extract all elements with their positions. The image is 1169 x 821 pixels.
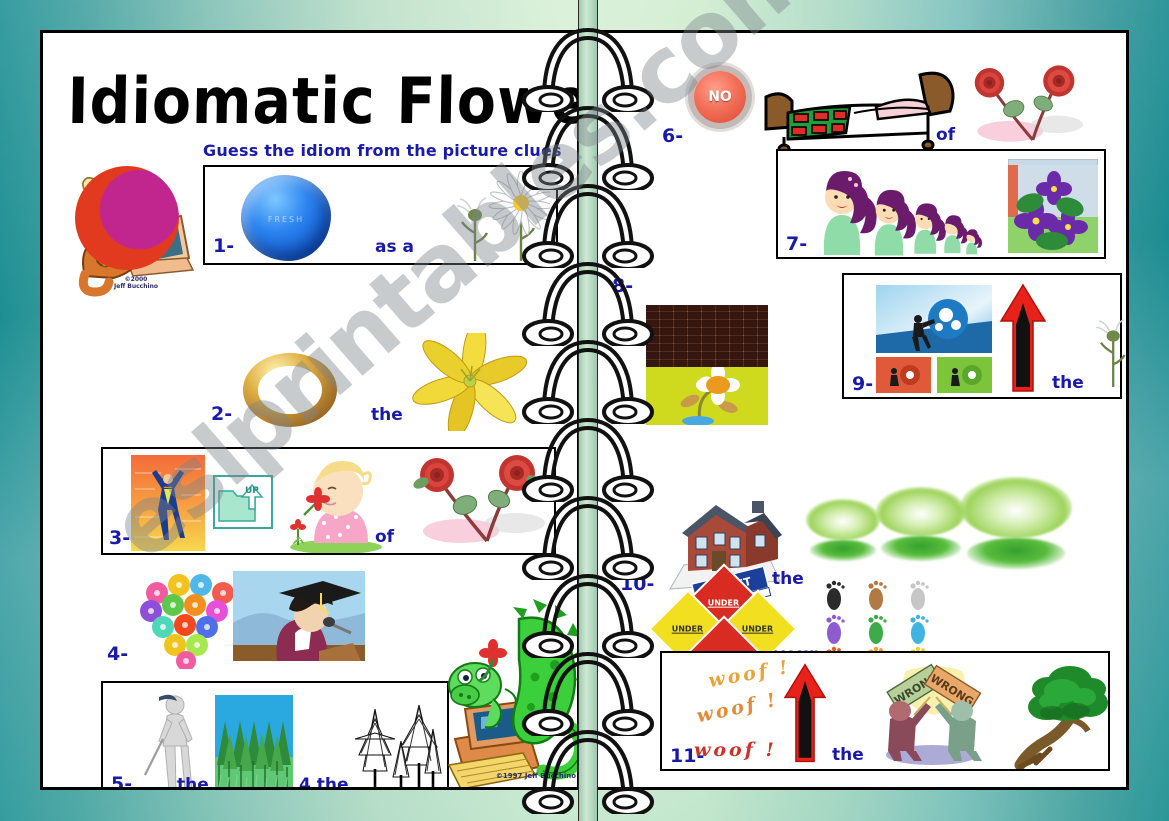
item-8-connector: + (614, 397, 630, 419)
gold-ring-icon (243, 353, 337, 427)
item-1-number: 1- (213, 235, 234, 257)
green-forest-icon (215, 695, 293, 790)
under-label: UNDER (708, 599, 739, 608)
page-subtitle: Guess the idiom from the picture clues (203, 141, 562, 160)
wrong-signs-icon: WRONG WRONG (866, 659, 1000, 767)
red-roses-icon (403, 453, 553, 553)
worksheet-page-left: Idiomatic Flowers Guess the idiom from t… (40, 30, 580, 790)
item-9-box: 9- the (842, 273, 1122, 399)
grass-blobs-icon (960, 477, 1072, 569)
item-4-row: 4- (101, 561, 441, 669)
item-10-number: 10- (620, 573, 654, 595)
under-label: UNDER (672, 625, 703, 634)
push-effort-icon (876, 285, 992, 393)
red-roses-icon (960, 63, 1090, 151)
flower-plant-icon (646, 367, 768, 425)
item-5-connector-1: the (177, 775, 209, 790)
item-2-row: 2- the (203, 333, 558, 433)
item-11-box: 11- woof ! woof ! woof ! the WRONG WRONG (660, 651, 1110, 771)
svg-text:UP: UP (245, 486, 259, 496)
daisy-flower-icon (425, 171, 550, 263)
item-6-connector: of (936, 125, 955, 145)
item-11-connector: the (832, 745, 864, 765)
dragon-credit: ©1997 Jeff Bucchino (481, 773, 580, 780)
item-1-connector: as a (375, 237, 414, 257)
item-5-box: 5- (101, 681, 449, 790)
item-7-number: 7- (786, 233, 807, 255)
item-5-number: 5- (111, 773, 132, 790)
item-6-row: 6- NO of (660, 63, 1080, 155)
yellow-lily-icon (408, 333, 538, 431)
worksheet-page-right: 6- NO of (595, 30, 1129, 790)
up-arrow-folder-icon: UP (213, 475, 273, 529)
item-2-connector: the (371, 405, 403, 425)
shrinking-women-icon (810, 157, 1020, 257)
no-badge-icon: NO (694, 71, 746, 123)
item-9-number: 9- (852, 373, 873, 395)
dragon-illustration (431, 589, 580, 790)
bull-credit: ©2000 Jeff Bucchino (101, 276, 171, 290)
dragon-mascot-clipart: ©1997 Jeff Bucchino (431, 589, 580, 790)
page-title: Idiomatic Flowers (67, 65, 580, 139)
item-3-connector: of (375, 527, 394, 547)
item-6-number: 6- (662, 125, 683, 147)
brick-wall-icon (646, 305, 768, 367)
woof-bark-icon: woof ! (707, 656, 792, 692)
bull-mascot-clipart: ©2000 Jeff Bucchino (61, 158, 201, 298)
tree-icon (1006, 657, 1110, 769)
bed-icon (758, 67, 966, 153)
fresh-soap-disc-icon (241, 175, 331, 261)
jumping-man-icon (131, 455, 205, 551)
item-8-row: 8- + (610, 275, 790, 425)
item-10-row: 10- TO LET the (618, 473, 1118, 673)
daisy-flower-icon (1066, 281, 1129, 393)
item-8-number: 8- (612, 275, 633, 297)
grass-blobs-icon (876, 487, 966, 561)
bull-background-circle (75, 166, 179, 270)
item-1-box: 1- as a (203, 165, 558, 265)
item-4-number: 4- (107, 643, 128, 665)
item-7-box: 7- (776, 149, 1106, 259)
red-up-arrow-icon (784, 659, 826, 767)
woof-bark-icon: woof ! (695, 689, 781, 728)
baby-smelling-flower-icon (278, 457, 388, 553)
under-label: UNDER (742, 625, 773, 634)
red-up-arrow-icon (1000, 283, 1046, 393)
violets-photo-icon (1008, 159, 1098, 253)
grass-blobs-icon (806, 499, 880, 561)
item-2-number: 2- (211, 403, 232, 425)
item-3-box: 3- UP (101, 447, 556, 555)
woof-bark-icon: woof ! (694, 739, 777, 761)
graduate-speech-icon (233, 571, 365, 661)
item-3-number: 3- (109, 527, 130, 549)
